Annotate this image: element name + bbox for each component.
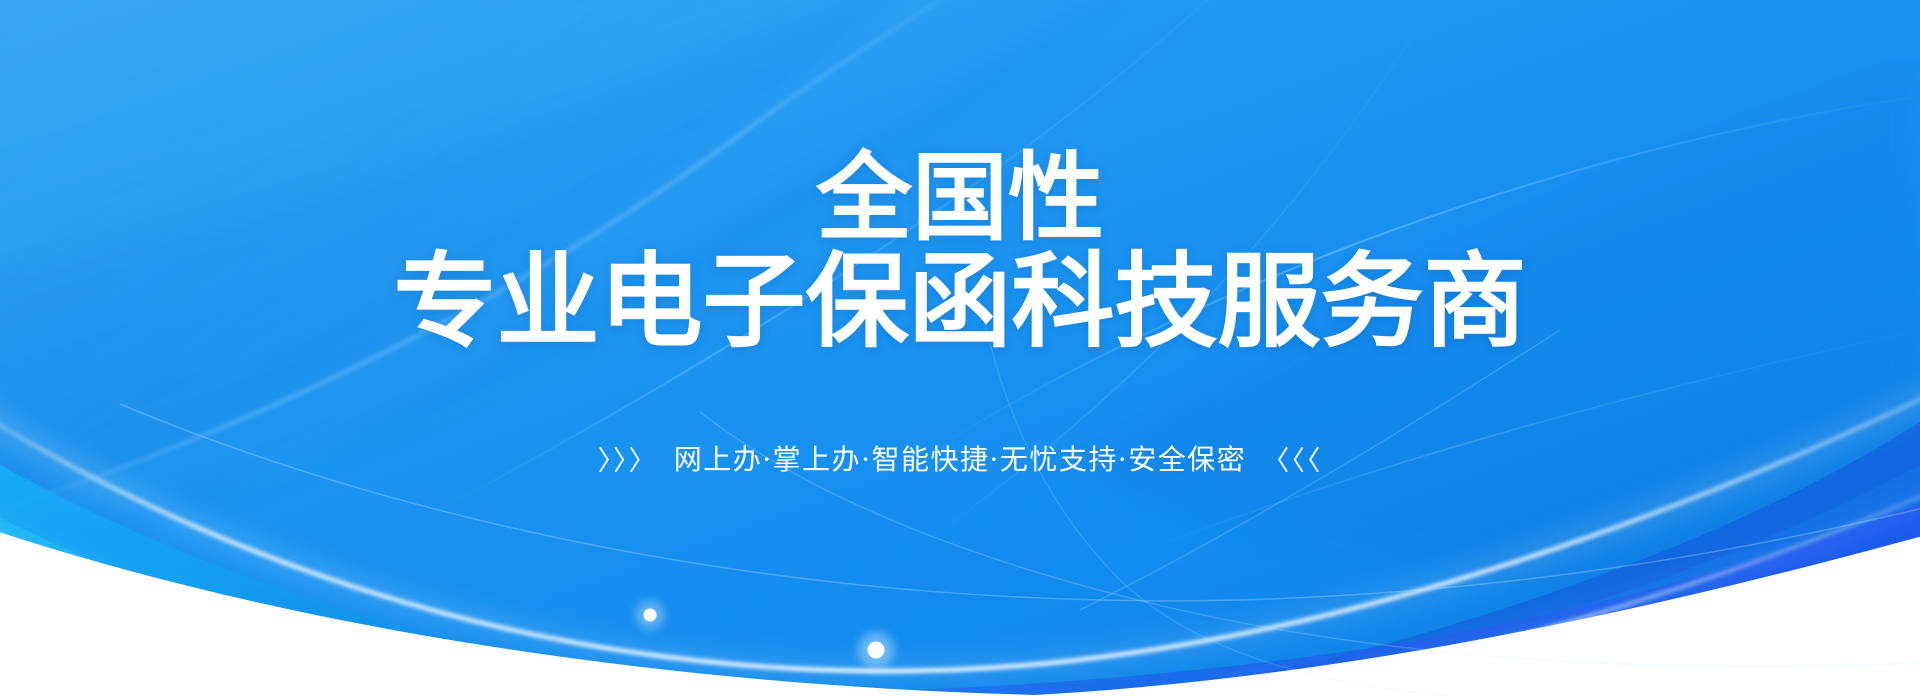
glow-dot-left [644,609,657,622]
background-artwork [0,0,1920,696]
glow-dot-center [868,642,885,659]
hero-banner: 全国性 专业电子保函科技服务商 〉〉〉 网上办·掌上办·智能快捷·无忧支持·安全… [0,0,1920,696]
glow-dot-right [1556,642,1569,655]
